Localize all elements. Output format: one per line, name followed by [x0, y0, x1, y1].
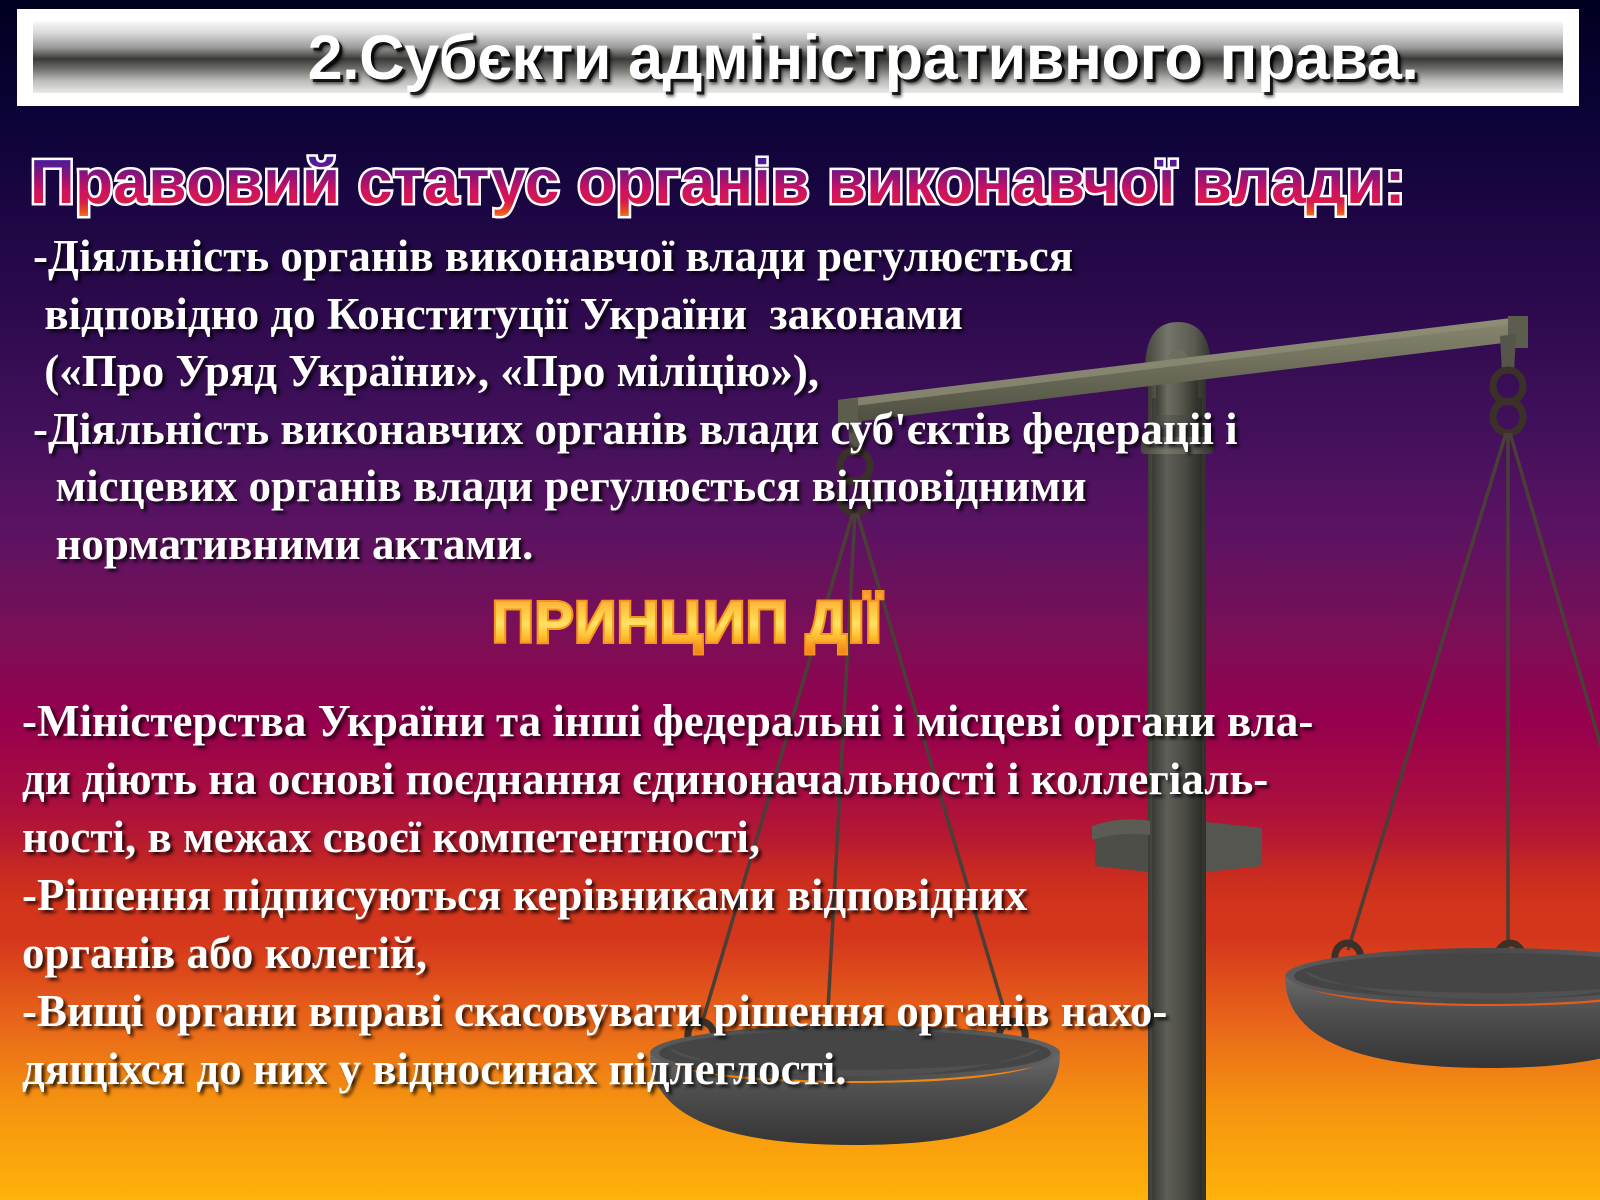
body-lower-line-2: ди діють на основі поєднання єдиноначаль…	[22, 750, 1313, 808]
body-lower-line-6: -Вищі органи вправі скасовувати рішення …	[22, 982, 1313, 1040]
body-upper-line-6: нормативними актами.	[33, 516, 1238, 574]
title-banner-gradient-fill: 2.Субєкти адміністративного права.	[33, 22, 1563, 93]
body-upper-line-4: -Діяльність виконавчих органів влади суб…	[33, 401, 1238, 459]
body-upper-line-3: («Про Уряд України», «Про міліцію»),	[33, 343, 1238, 401]
section-heading-principle: ПРИНЦИП ДІЇ ПРИНЦИП ДІЇ	[492, 594, 882, 652]
body-lower-line-3: ності, в межах своєї компетентності,	[22, 808, 1313, 866]
body-upper-line-5: місцевих органів влади регулюється відпо…	[33, 458, 1238, 516]
body-lower-line-7: дящіхся до них у відносинах підлеглості.	[22, 1040, 1313, 1098]
body-upper-line-2: відповідно до Конституції України закона…	[33, 286, 1238, 344]
body-lower-line-4: -Рішення підписуються керівниками відпов…	[22, 866, 1313, 924]
page-title: 2.Субєкти адміністративного права.	[33, 22, 1563, 94]
body-lower-line-1: -Міністерства України та інші федеральні…	[22, 692, 1313, 750]
title-banner: 2.Субєкти адміністративного права.	[17, 9, 1579, 106]
section-heading-legal-status: Правовий статус органів виконавчої влади…	[30, 152, 1570, 214]
section-heading-fill: Правовий статус органів виконавчої влади…	[30, 148, 1406, 217]
slide-root: 2.Субєкти адміністративного права. Право…	[0, 0, 1600, 1200]
body-text-lower: -Міністерства України та інші федеральні…	[22, 692, 1313, 1098]
body-upper-line-1: -Діяльність органів виконавчої влади рег…	[33, 228, 1238, 286]
principle-heading-fill: ПРИНЦИП ДІЇ	[492, 590, 882, 655]
body-lower-line-5: органів або колегій,	[22, 924, 1313, 982]
